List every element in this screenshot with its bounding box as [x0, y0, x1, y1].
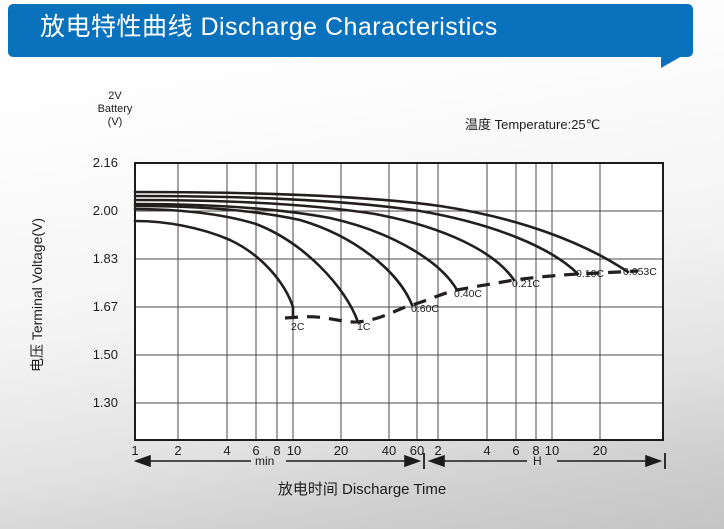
discharge-characteristics-page: 放电特性曲线 Discharge Characteristics	[0, 0, 724, 529]
x-tick-min-20: 20	[326, 443, 356, 458]
curve-label-010C: 0.10C	[576, 268, 604, 280]
x-axis-title: 放电时间 Discharge Time	[0, 478, 724, 499]
curve-label-040C: 0.40C	[454, 288, 482, 300]
y-tick-1-83: 1.83	[74, 251, 118, 266]
curve-label-060C: 0.60C	[411, 303, 439, 315]
x-tick-hour-20: 20	[585, 443, 615, 458]
y-tick-1-50: 1.50	[74, 347, 118, 362]
y-tick-2-00: 2.00	[74, 203, 118, 218]
chart-area: 2V Battery (V) 温度 Temperature:25℃ 电压 Ter…	[0, 0, 724, 529]
x-tick-hour-2: 2	[423, 443, 453, 458]
x-tick-min-40: 40	[374, 443, 404, 458]
curve-label-021C: 0.21C	[512, 278, 540, 290]
battery-label-line-3: (V)	[85, 116, 145, 129]
temperature-annotation: 温度 Temperature:25℃	[465, 118, 600, 131]
curve-label-2C: 2C	[291, 321, 304, 333]
battery-type-label: 2V Battery (V)	[85, 90, 145, 129]
x-tick-min-1: 1	[120, 443, 150, 458]
hour-right-arrowhead	[646, 456, 660, 466]
curve-label-1C: 1C	[357, 321, 370, 333]
x-tick-min-4: 4	[212, 443, 242, 458]
unit-label-hour: H	[533, 454, 542, 468]
x-tick-min-2: 2	[163, 443, 193, 458]
y-tick-2-16: 2.16	[74, 155, 118, 170]
unit-label-min: min	[255, 454, 274, 468]
y-tick-1-30: 1.30	[74, 395, 118, 410]
battery-label-line-2: Battery	[85, 103, 145, 116]
x-tick-min-10: 10	[279, 443, 309, 458]
battery-label-line-1: 2V	[85, 90, 145, 103]
x-tick-hour-4: 4	[472, 443, 502, 458]
y-tick-1-67: 1.67	[74, 299, 118, 314]
y-axis-title: 电压 Terminal Voltage(V)	[27, 195, 47, 395]
curve-label-0053C: 0.053C	[623, 266, 657, 278]
